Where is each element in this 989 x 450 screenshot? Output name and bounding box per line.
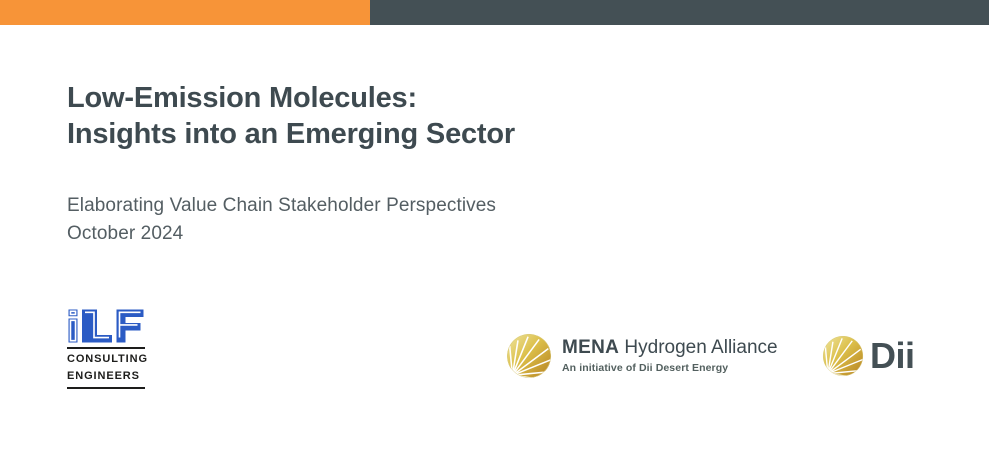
ilf-logo: CONSULTING ENGINEERS	[67, 308, 145, 389]
top-bar-slate-segment	[370, 0, 989, 25]
title-line-1: Low-Emission Molecules:	[67, 80, 827, 116]
mena-name-light: Hydrogen Alliance	[619, 337, 777, 358]
ilf-rule-top	[67, 347, 145, 349]
top-bar-orange-segment	[0, 0, 370, 25]
ilf-engineers-label: ENGINEERS	[67, 370, 145, 383]
ilf-consulting-label: CONSULTING	[67, 353, 145, 366]
top-accent-bar	[0, 0, 989, 25]
dii-wordmark: Dii	[870, 336, 915, 376]
sun-rays-icon	[506, 333, 552, 379]
mena-tagline: An initiative of Dii Desert Energy	[562, 361, 778, 375]
title-line-2: Insights into an Emerging Sector	[67, 116, 827, 152]
mena-text-block: MENA Hydrogen Alliance An initiative of …	[562, 337, 778, 375]
dii-logo: Dii	[822, 335, 915, 377]
page-subtitle: Elaborating Value Chain Stakeholder Pers…	[67, 192, 827, 248]
page-title: Low-Emission Molecules: Insights into an…	[67, 80, 827, 152]
mena-name: MENA Hydrogen Alliance	[562, 337, 778, 359]
subtitle-date: October 2024	[67, 220, 827, 248]
mena-hydrogen-alliance-logo: MENA Hydrogen Alliance An initiative of …	[506, 333, 778, 379]
ilf-wordmark-icon	[67, 308, 145, 344]
mena-name-bold: MENA	[562, 337, 619, 358]
subtitle-line-1: Elaborating Value Chain Stakeholder Pers…	[67, 192, 827, 220]
sun-rays-icon	[822, 335, 864, 377]
ilf-rule-bottom	[67, 387, 145, 389]
